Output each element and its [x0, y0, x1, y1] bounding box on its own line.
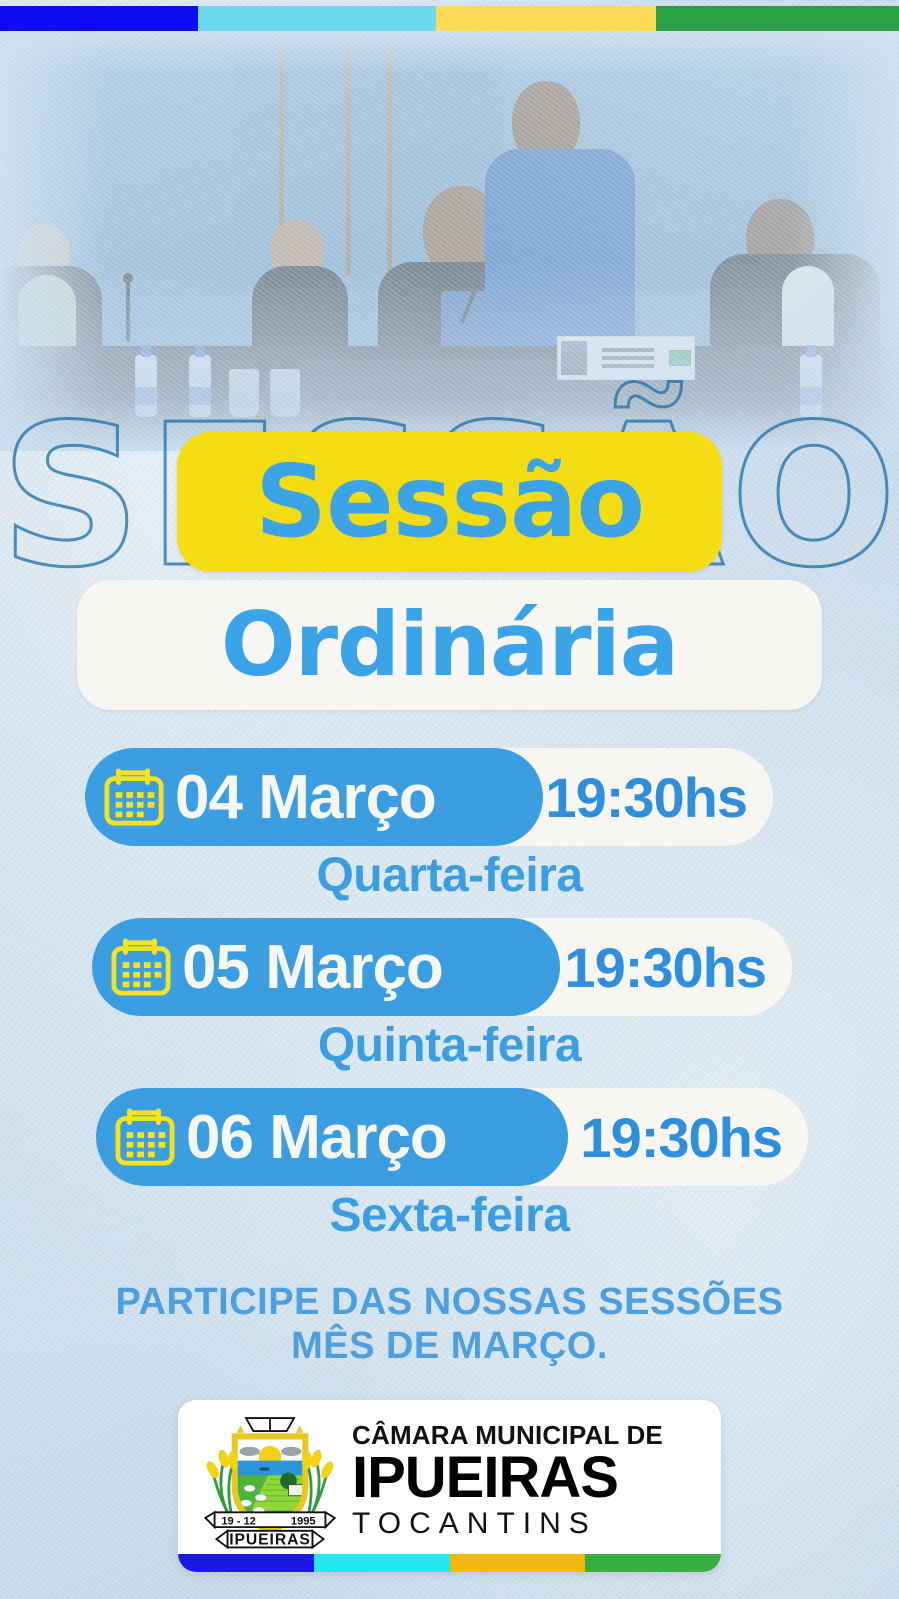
call-to-action: PARTICIPE DAS NOSSAS SESSÕES MÊS DE MARÇ…	[0, 1281, 899, 1368]
top-bar-segment-green	[656, 6, 899, 31]
cta-line2: MÊS DE MARÇO.	[0, 1325, 899, 1369]
crest-date-right: 1995	[291, 1515, 316, 1527]
headline-block: Sessão Ordinária	[0, 432, 899, 710]
crest-date-left: 19 - 12	[221, 1515, 256, 1527]
date-day: 05 Março	[182, 932, 443, 1003]
date-weekday: Quarta-feira	[0, 848, 899, 903]
date-pill-wrap: 19:30hs	[0, 1088, 899, 1186]
logo-card: 19 - 12 1995 IPUEIRAS CÂMARA MUNICIPAL D…	[178, 1400, 721, 1572]
cta-line1: PARTICIPE DAS NOSSAS SESSÕES	[0, 1281, 899, 1325]
headline-line1: Sessão	[255, 452, 644, 552]
calendar-icon	[103, 767, 165, 827]
date-time: 19:30hs	[580, 1105, 782, 1170]
date-day: 06 Março	[186, 1102, 447, 1173]
headline-badge-ordinaria: Ordinária	[77, 580, 822, 710]
date-day-pill: 04 Março	[85, 748, 543, 846]
date-pill-wrap: 19:30hs	[0, 918, 899, 1016]
coat-of-arms-icon: 19 - 12 1995 IPUEIRAS	[196, 1407, 344, 1553]
top-bar-segment-blue	[0, 6, 198, 31]
logo-line-ipueiras: IPUEIRAS	[352, 1449, 663, 1507]
logo-wordmark: CÂMARA MUNICIPAL DE IPUEIRAS TOCANTINS	[352, 1422, 663, 1539]
logo-line-camara: CÂMARA MUNICIPAL DE	[352, 1422, 663, 1448]
date-row: 19:30hs	[0, 1088, 899, 1258]
card-stripe-segment-amber	[450, 1554, 586, 1572]
date-row: 19:30hs	[0, 918, 899, 1088]
date-time: 19:30hs	[564, 935, 766, 1000]
top-color-bar	[0, 6, 899, 31]
card-stripe-segment-cyan	[314, 1554, 450, 1572]
date-day-pill: 06 Março	[96, 1088, 568, 1186]
top-bar-segment-cyan	[198, 6, 436, 31]
top-bar-segment-yellow	[436, 6, 656, 31]
headline-badge-sessao: Sessão	[177, 432, 722, 572]
calendar-icon	[110, 937, 172, 997]
date-weekday: Sexta-feira	[0, 1188, 899, 1243]
date-row: 19:30hs	[0, 748, 899, 918]
date-day: 04 Março	[175, 762, 436, 833]
date-time: 19:30hs	[545, 765, 747, 830]
card-stripe-segment-blue	[178, 1554, 314, 1572]
logo-line-tocantins: TOCANTINS	[352, 1509, 663, 1539]
date-day-pill: 05 Março	[92, 918, 560, 1016]
poster-canvas: SESSÃO Sessão Ordinária 19:30hs	[0, 0, 899, 1599]
calendar-icon	[114, 1107, 176, 1167]
date-weekday: Quinta-feira	[0, 1018, 899, 1073]
date-pill-wrap: 19:30hs	[0, 748, 899, 846]
date-list: 19:30hs	[0, 748, 899, 1258]
card-stripe-segment-green	[585, 1554, 721, 1572]
logo-card-color-stripe	[178, 1554, 721, 1572]
headline-line2: Ordinária	[221, 601, 678, 689]
crest-city-name: IPUEIRAS	[229, 1532, 311, 1549]
